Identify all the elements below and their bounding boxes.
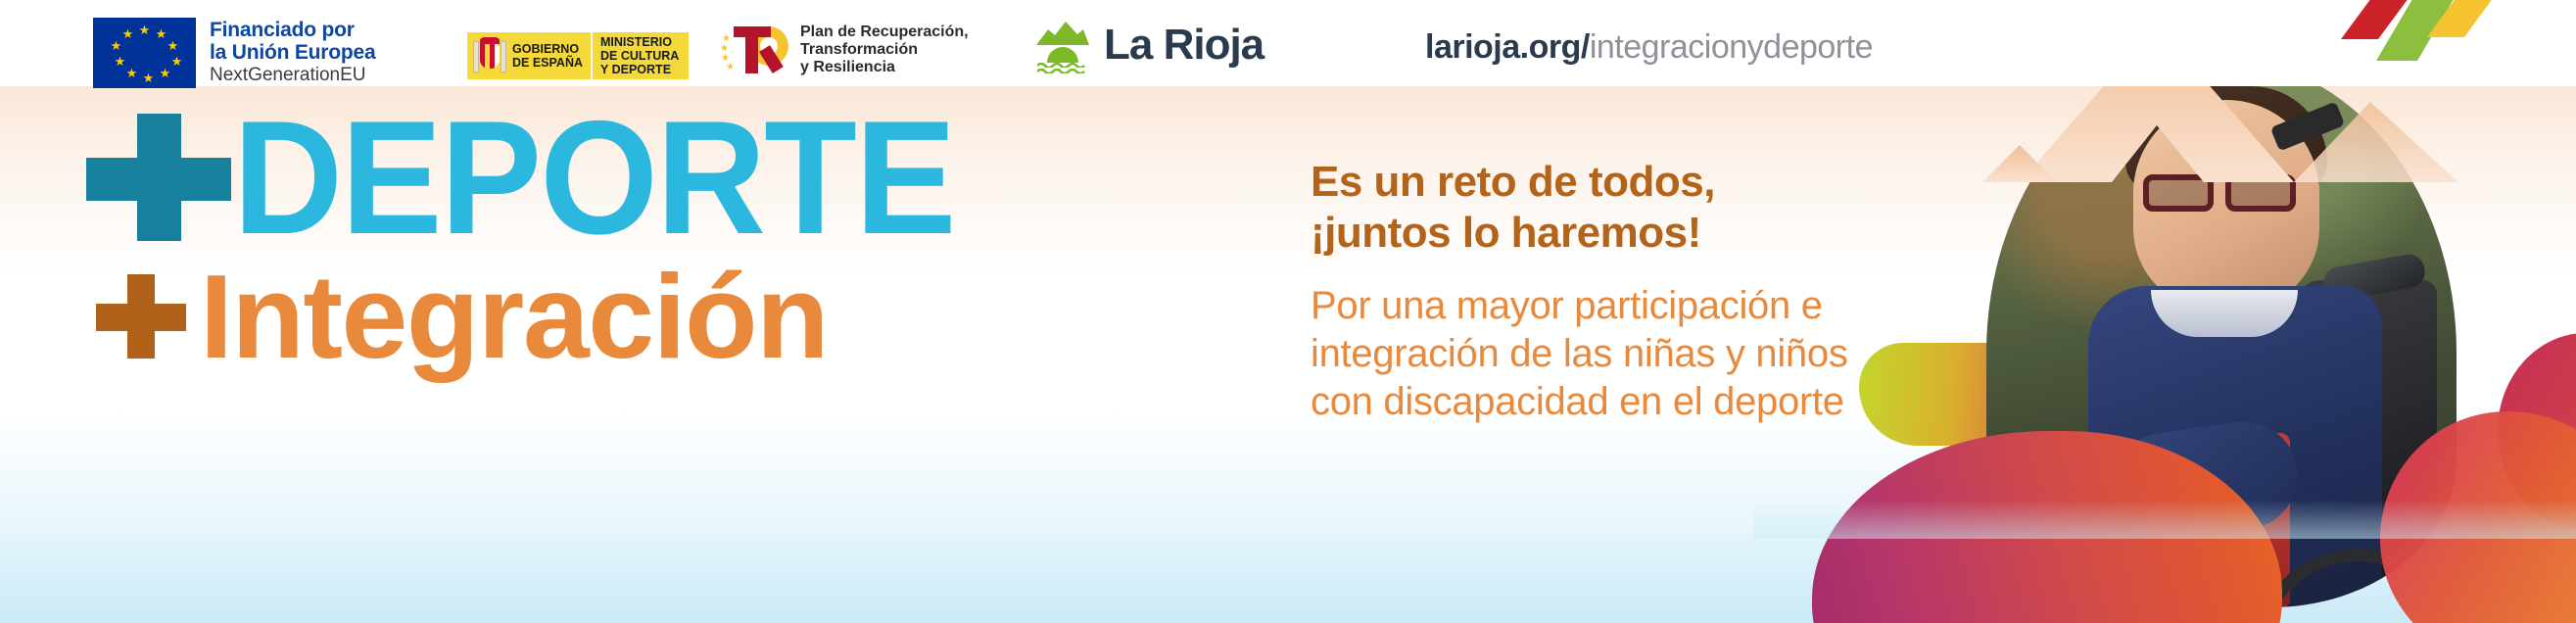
spain-coat-of-arms-icon: [473, 35, 506, 76]
headline-mas-deporte: DEPORTE: [86, 104, 1001, 251]
ministerio-text: MINISTERIO DE CULTURA Y DEPORTE: [600, 35, 679, 76]
recovery-plan-text: Plan de Recuperación, Transformación y R…: [800, 24, 969, 76]
recovery-plan-line-3: y Resiliencia: [800, 59, 969, 76]
campaign-sub-line-1: Por una mayor participación e: [1311, 282, 1918, 330]
la-rioja-wordmark: La Rioja: [1104, 23, 1264, 68]
la-rioja-logo[interactable]: La Rioja: [1033, 20, 1264, 71]
headline-word-integracion: Integración: [200, 258, 828, 375]
gobierno-text: GOBIERNO DE ESPAÑA: [512, 42, 583, 70]
headline-mas-integracion: Integración: [96, 258, 828, 375]
campaign-url-domain: larioja.org/: [1425, 28, 1590, 66]
headline-word-deporte: DEPORTE: [233, 104, 955, 251]
eu-funding-line-2: la Unión Europea: [210, 41, 376, 64]
plan-de-recuperacion-logo: ★ ★ ★ ★ Plan de Recuperación, Transforma…: [720, 24, 969, 76]
ministerio-line-2: DE CULTURA: [600, 49, 679, 63]
ministerio-line-1: MINISTERIO: [600, 35, 679, 49]
campaign-banner: ★ ★ ★ ★ ★ ★ ★ ★ ★ ★ Financiado por la Un…: [0, 0, 2576, 623]
european-union-funding-logo: ★ ★ ★ ★ ★ ★ ★ ★ ★ ★ Financiado por la Un…: [93, 18, 376, 88]
campaign-url[interactable]: larioja.org/integracionydeporte: [1425, 27, 1873, 67]
recovery-plan-tr-icon: ★ ★ ★ ★: [720, 26, 790, 73]
campaign-lead-line-2: ¡juntos lo haremos!: [1311, 208, 1918, 259]
eu-logo-text: Financiado por la Unión Europea NextGene…: [210, 19, 376, 87]
photo-glasses: [2141, 174, 2315, 214]
decorative-diagonal-stripes: [2339, 0, 2554, 72]
gobierno-line-2: DE ESPAÑA: [512, 56, 583, 70]
campaign-copy: Es un reto de todos, ¡juntos lo haremos!…: [1311, 157, 1918, 426]
gobierno-line-1: GOBIERNO: [512, 42, 583, 56]
campaign-sub-text: Por una mayor participación e integració…: [1311, 282, 1918, 426]
ministerio-line-3: Y DEPORTE: [600, 63, 679, 76]
logo-header-bar: ★ ★ ★ ★ ★ ★ ★ ★ ★ ★ Financiado por la Un…: [0, 0, 2576, 86]
campaign-lead-line-1: Es un reto de todos,: [1311, 157, 1918, 208]
eu-flag-icon: ★ ★ ★ ★ ★ ★ ★ ★ ★ ★: [93, 18, 196, 88]
ministerio-block: MINISTERIO DE CULTURA Y DEPORTE: [593, 32, 689, 79]
recovery-plan-line-2: Transformación: [800, 41, 969, 59]
plus-icon-teal: [86, 114, 231, 241]
campaign-url-path: integracionydeporte: [1590, 28, 1873, 66]
gobierno-de-espana-logo: GOBIERNO DE ESPAÑA MINISTERIO DE CULTURA…: [467, 32, 689, 79]
campaign-sub-line-2: integración de las niñas y niños: [1311, 330, 1918, 378]
campaign-sub-line-3: con discapacidad en el deporte: [1311, 378, 1918, 426]
plus-icon-orange: [96, 274, 186, 359]
campaign-lead-text: Es un reto de todos, ¡juntos lo haremos!: [1311, 157, 1918, 259]
gobierno-block: GOBIERNO DE ESPAÑA: [467, 32, 593, 79]
eu-programme-name: NextGenerationEU: [210, 64, 376, 87]
recovery-plan-line-1: Plan de Recuperación,: [800, 24, 969, 41]
eu-funding-line-1: Financiado por: [210, 19, 376, 41]
la-rioja-mountain-bridge-icon: [1033, 20, 1092, 71]
